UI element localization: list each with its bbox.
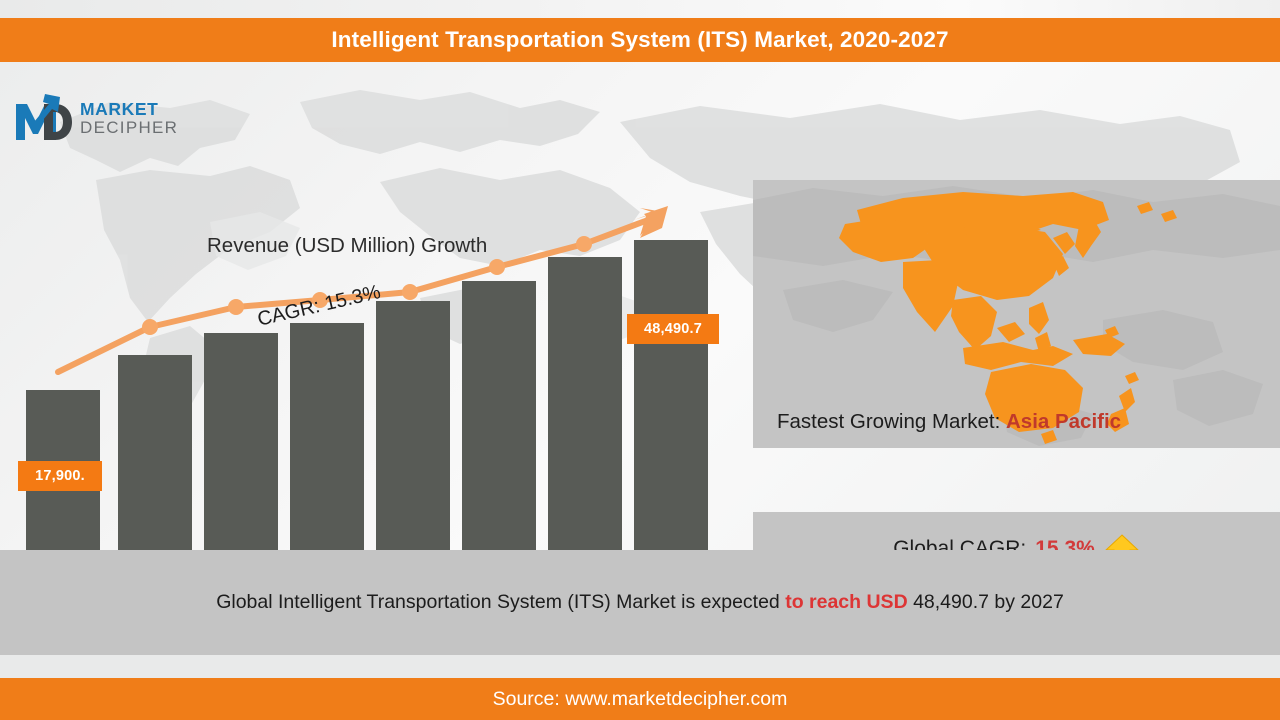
bar-2021 [118,355,192,550]
statement-suffix: 48,490.7 by 2027 [908,591,1064,613]
logo-market-text: MARKET [80,101,178,118]
main-content: MARKET DECIPHER Revenue (USD Million) Gr… [0,62,1280,550]
source-text: Source: www.marketdecipher.com [493,688,788,711]
market-statement-text: Global Intelligent Transportation System… [216,591,1064,614]
bar-2024 [376,301,450,550]
fastest-growing-market-caption: Fastest Growing Market: Asia Pacific [777,410,1121,434]
bar-2025 [462,281,536,550]
infographic-root: Intelligent Transportation System (ITS) … [0,0,1280,720]
fastest-growing-market-panel: Fastest Growing Market: Asia Pacific [753,180,1280,448]
fastest-growing-market-prefix: Fastest Growing Market: [777,410,1006,433]
global-cagr-prefix: Global CAGR: [893,537,1026,550]
bar-2027 [634,240,708,550]
global-cagr-panel: Global CAGR: 15.3% [753,512,1280,550]
top-decorative-strip [0,0,1280,18]
global-cagr-value: 15.3% [1035,537,1095,550]
footer-bar: Source: www.marketdecipher.com [0,678,1280,720]
statement-prefix: Global Intelligent Transportation System… [216,591,785,613]
market-statement-band: Global Intelligent Transportation System… [0,550,1280,655]
bar-2022 [204,333,278,550]
statement-accent: to reach USD [785,591,907,613]
data-label-2027: 48,490.7 [627,314,719,344]
global-cagr-text: Global CAGR: 15.3% [893,533,1140,550]
bar-2023 [290,323,364,550]
revenue-bar-chart: Revenue (USD Million) Growth [0,124,740,550]
asia-pacific-map-icon [753,180,1280,448]
fastest-growing-market-value: Asia Pacific [1006,410,1121,433]
data-label-2020: 17,900. [18,461,102,491]
up-arrow-icon [1104,533,1140,550]
title-bar: Intelligent Transportation System (ITS) … [0,18,1280,62]
bottom-decorative-strip [0,655,1280,678]
page-title: Intelligent Transportation System (ITS) … [331,27,948,53]
bar-2026 [548,257,622,550]
